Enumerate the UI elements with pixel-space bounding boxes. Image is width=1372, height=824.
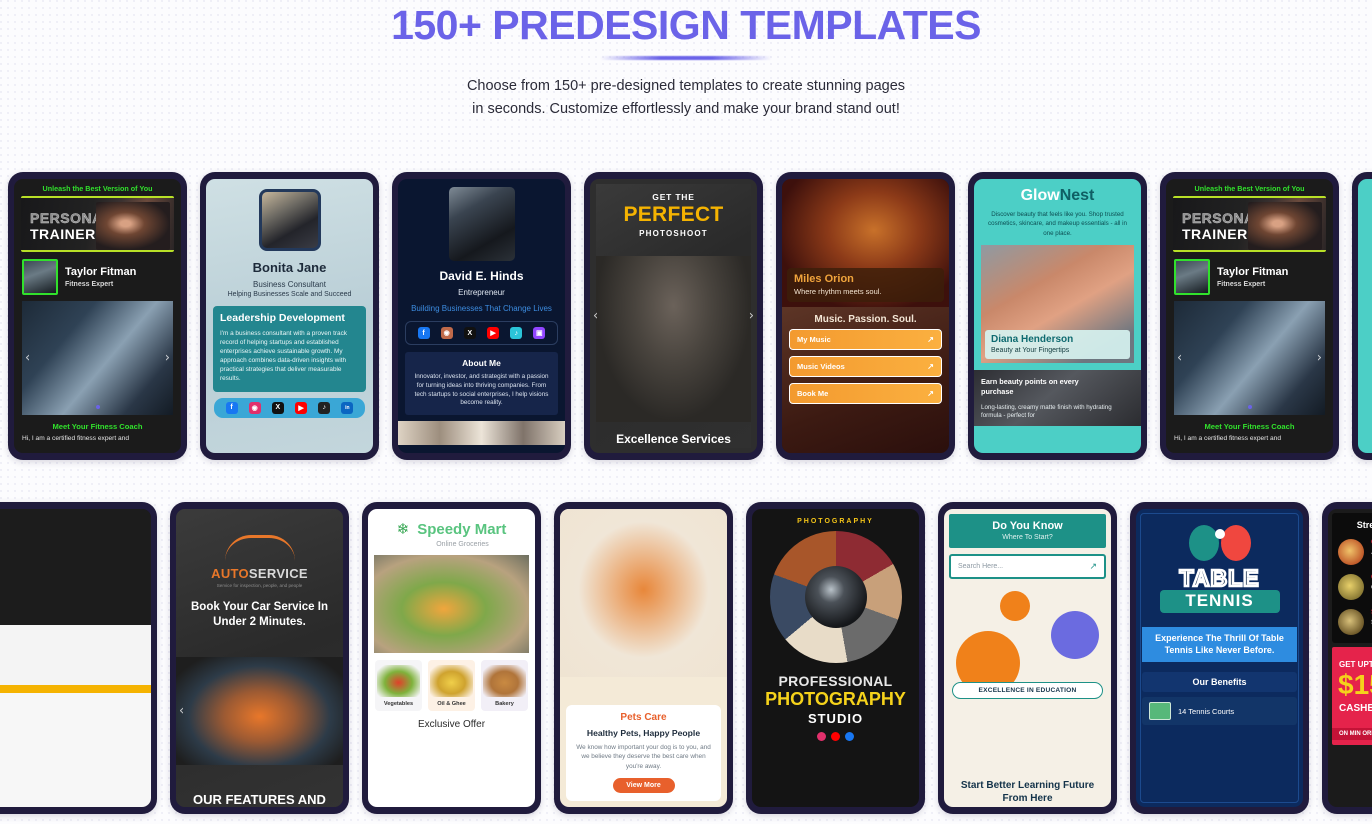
photoshoot-photo — [596, 256, 751, 422]
trainer-banner-figure — [1248, 202, 1322, 250]
carousel-dot[interactable] — [96, 405, 100, 409]
about-text: Innovator, investor, and strategist with… — [412, 373, 551, 408]
food-item: Street-Style Tacos Spicy, zesty, and ful… — [1338, 609, 1372, 635]
trainer-banner-figure — [96, 202, 170, 250]
beauty-model-photo: Diana Henderson Beauty at Your Fingertip… — [981, 245, 1134, 363]
grocery-brand: Speedy Mart — [417, 521, 506, 538]
tiktok-icon[interactable]: ♪ — [510, 327, 522, 339]
template-card-personal-trainer-repeat[interactable]: Unleash the Best Version of You PERSONAL… — [1160, 172, 1339, 460]
student-avatar-small — [1000, 591, 1030, 621]
studio-social-dots[interactable] — [752, 732, 919, 741]
fries-image — [1338, 574, 1364, 600]
consultant-service-card: Leadership Development I'm a business co… — [213, 306, 366, 392]
education-footer-line2: From Here — [944, 793, 1111, 806]
carousel-prev-icon[interactable]: ‹ — [25, 351, 30, 366]
trainer-tagline-top: Unleash the Best Version of You — [1166, 179, 1333, 196]
template-card-table-tennis[interactable]: TABLE TENNIS Experience The Thrill Of Ta… — [1130, 502, 1309, 814]
pets-subtitle: Healthy Pets, Happy People — [574, 728, 713, 738]
education-header: Do You Know Where To Start? — [949, 514, 1106, 548]
page-subtitle: Choose from 150+ pre-designed templates … — [0, 75, 1372, 121]
trainer-banner-line2: TRAINER — [1182, 226, 1248, 242]
template-card-education[interactable]: Do You Know Where To Start? Search Here.… — [938, 502, 1117, 814]
category-label: Oil & Ghee — [430, 701, 473, 707]
beauty-promo-title: Earn beauty points on every purchase — [981, 377, 1113, 397]
trainer-photo-carousel[interactable]: ‹ › — [1174, 301, 1325, 415]
beauty-brand-part1: Glow — [1021, 187, 1060, 204]
studio-top-label: PHOTOGRAPHY — [752, 509, 919, 525]
template-card-next-partial[interactable]: GlowNest — [1352, 172, 1372, 460]
x-twitter-icon[interactable]: X — [464, 327, 476, 339]
partial-accent-bar — [0, 685, 151, 693]
carousel-next-icon[interactable]: › — [165, 351, 170, 366]
x-twitter-icon[interactable]: X — [272, 402, 284, 414]
consultant-role: Business Consultant — [206, 280, 373, 289]
studio-line3: STUDIO — [752, 711, 919, 726]
avatar — [1174, 259, 1210, 295]
entrepreneur-photo-wrap — [398, 179, 565, 261]
camera-lens-icon — [805, 566, 867, 628]
musician-name-band: Miles Orion Where rhythm meets soul. — [787, 268, 944, 302]
book-me-button[interactable]: Book Me ↗ — [789, 383, 942, 404]
beauty-subtitle: Discover beauty that feels like you. Sho… — [974, 205, 1141, 238]
beauty-name-band: Diana Henderson Beauty at Your Fingertip… — [985, 330, 1130, 359]
education-footer-line1: Start Better Learning Future — [944, 780, 1111, 793]
subtitle-line-1: Choose from 150+ pre-designed templates … — [0, 75, 1372, 98]
ball-icon — [1215, 529, 1225, 539]
facebook-icon[interactable]: f — [418, 327, 430, 339]
trainer-profile: Taylor Fitman Fitness Expert — [14, 252, 181, 301]
entrepreneur-gallery-strip — [398, 421, 565, 445]
template-card-business-consultant[interactable]: Bonita Jane Business Consultant Helping … — [200, 172, 379, 460]
photoshoot-footer: Excellence Services — [596, 432, 751, 446]
beauty-promo-text: Long-lasting, creamy matte finish with h… — [981, 404, 1119, 421]
grocery-subtitle: Online Groceries — [390, 541, 535, 548]
youtube-icon[interactable]: ▶ — [295, 402, 307, 414]
consultant-photo — [259, 189, 321, 251]
facebook-icon[interactable]: f — [226, 402, 238, 414]
food-item: Cheesy Loaded Burger Juicy, cheesy & sat… — [1338, 539, 1372, 565]
musician-headline: Music. Passion. Soul. — [782, 307, 949, 329]
entrepreneur-about-card: About Me Innovator, investor, and strate… — [405, 352, 558, 415]
auto-logo-slogan: Service for inspection, people, and peop… — [176, 583, 343, 588]
auto-logo-arc — [225, 535, 295, 561]
grocery-header: ❄ Speedy Mart — [368, 509, 535, 538]
trainer-banner: PERSONAL TRAINER — [1173, 196, 1326, 252]
consultant-card-text: I'm a business consultant with a proven … — [220, 329, 359, 384]
linkedin-icon[interactable]: in — [341, 402, 353, 414]
food-promo-banner[interactable]: GET UPTO $150 CASHBACK ON MIN ORDER OF $… — [1332, 647, 1372, 745]
tiktok-icon[interactable]: ♪ — [318, 402, 330, 414]
tacos-image — [1338, 609, 1364, 635]
beauty-brand-part2: Nest — [1060, 187, 1095, 204]
burger-image — [1338, 539, 1364, 565]
grocery-hero-image — [374, 555, 529, 653]
consultant-tagline: Helping Businesses Scale and Succeed — [206, 291, 373, 298]
studio-photo-wheel — [770, 531, 902, 663]
promo-get-upto: GET UPTO — [1339, 660, 1372, 669]
template-card-street-food[interactable]: Street Food, Fresh & Fast Cheesy Loaded … — [1322, 502, 1372, 814]
partial-light-block — [0, 625, 151, 685]
trainer-photo-carousel[interactable]: ‹ › — [22, 301, 173, 415]
trainer-name: Taylor Fitman — [65, 266, 136, 278]
musician-tagline: Where rhythm meets soul. — [794, 287, 937, 296]
templates-showcase-page: 150+ PREDESIGN TEMPLATES Choose from 150… — [0, 0, 1372, 824]
template-card-pets[interactable]: Pets Care Healthy Pets, Happy People We … — [554, 502, 733, 814]
education-search-field[interactable]: Search Here... ↗ — [949, 554, 1106, 579]
promo-min-order: ON MIN ORDER OF $400 — [1332, 728, 1372, 740]
education-illustration: EXCELLENCE IN EDUCATION — [944, 579, 1111, 729]
book-me-label: Book Me — [797, 389, 828, 398]
photoshoot-inner: GET THE PERFECT PHOTOSHOOT Excellence Se… — [596, 184, 751, 448]
trainer-description: Hi, I am a certified fitness expert and — [1166, 435, 1333, 444]
instagram-icon[interactable]: ◉ — [441, 327, 453, 339]
food-footer: Menu Bestsellers — [1328, 794, 1372, 805]
consultant-card-title: Leadership Development — [220, 312, 359, 324]
category-label: Bakery — [483, 701, 526, 707]
trainer-role: Fitness Expert — [1217, 281, 1288, 288]
template-card-grocery[interactable]: ❄ Speedy Mart Online Groceries Vegetable… — [362, 502, 541, 814]
carousel-next-icon[interactable]: › — [749, 309, 754, 324]
beauty-brand: GlowNest — [974, 179, 1141, 205]
entrepreneur-social-bar[interactable]: f ◉ X ▶ ♪ ▣ — [405, 321, 558, 345]
instagram-icon[interactable] — [817, 732, 826, 741]
music-videos-label: Music Videos — [797, 362, 845, 371]
education-footer: Start Better Learning Future From Here — [944, 780, 1111, 805]
carousel-prev-icon[interactable]: ‹ — [593, 309, 598, 324]
food-menu-panel: Street Food, Fresh & Fast Cheesy Loaded … — [1332, 513, 1372, 643]
template-card-photoshoot[interactable]: GET THE PERFECT PHOTOSHOOT Excellence Se… — [584, 172, 763, 460]
template-card-musician[interactable]: Miles Orion Where rhythm meets soul. Mus… — [776, 172, 955, 460]
page-title: 150+ PREDESIGN TEMPLATES — [0, 4, 1372, 47]
carousel-prev-icon[interactable]: ‹ — [1177, 351, 1182, 366]
auto-headline: Book Your Car Service In Under 2 Minutes… — [176, 600, 343, 630]
external-link-icon: ↗ — [927, 362, 934, 371]
bakery-image — [483, 665, 526, 697]
external-link-icon: ↗ — [927, 335, 934, 344]
promo-cashback: CASHBACK — [1339, 703, 1372, 714]
auto-car-image: ‹ — [176, 657, 343, 765]
partial-bottom-block — [0, 693, 151, 807]
pets-dog-illustration — [560, 509, 727, 677]
template-card-photography-studio[interactable]: PHOTOGRAPHY PROFESSIONAL PHOTOGRAPHY STU… — [746, 502, 925, 814]
carousel-dot[interactable] — [1248, 405, 1252, 409]
excellence-badge[interactable]: EXCELLENCE IN EDUCATION — [952, 682, 1103, 699]
tennis-inner-border — [1140, 513, 1299, 803]
carousel-prev-icon[interactable]: ‹ — [179, 704, 184, 719]
search-input[interactable]: Search Here... — [958, 563, 1003, 570]
trainer-tagline-bottom: Meet Your Fitness Coach — [14, 415, 181, 435]
entrepreneur-role: Entrepreneur — [398, 288, 565, 297]
beauty-brand: GlowNest — [1358, 179, 1372, 205]
trainer-description: Hi, I am a certified fitness expert and — [14, 435, 181, 444]
entrepreneur-photo — [449, 187, 515, 261]
entrepreneur-name: David E. Hinds — [398, 269, 565, 283]
carousel-next-icon[interactable]: › — [1317, 351, 1322, 366]
musician-links-section: Music. Passion. Soul. My Music ↗ Music V… — [782, 307, 949, 453]
my-music-button[interactable]: My Music ↗ — [789, 329, 942, 350]
musician-name: Miles Orion — [794, 273, 937, 285]
template-card-beauty[interactable]: GlowNest Discover beauty that feels like… — [968, 172, 1147, 460]
pets-title: Pets Care — [574, 712, 713, 723]
category-oil-ghee[interactable]: Oil & Ghee — [428, 660, 475, 711]
studio-line1: PROFESSIONAL — [752, 673, 919, 689]
trainer-banner: PERSONAL TRAINER — [21, 196, 174, 252]
facebook-icon[interactable] — [845, 732, 854, 741]
consultant-name: Bonita Jane — [206, 260, 373, 275]
vegetables-image — [377, 665, 420, 697]
studio-line2: PHOTOGRAPHY — [752, 690, 919, 708]
template-carousel-row-bottom[interactable]: AUTOSERVICE Service for inspection, peop… — [0, 502, 1372, 814]
about-title: About Me — [412, 358, 551, 368]
category-label: Vegetables — [377, 701, 420, 707]
food-item: Crispy Fries Golden, crunchy, and perfec… — [1338, 574, 1372, 600]
trainer-name: Taylor Fitman — [1217, 266, 1288, 278]
pets-description: We know how important your dog is to you… — [574, 743, 713, 771]
template-card-entrepreneur[interactable]: David E. Hinds Entrepreneur Building Bus… — [392, 172, 571, 460]
external-link-icon: ↗ — [927, 389, 934, 398]
photoshoot-line1: GET THE — [596, 184, 751, 202]
photoshoot-line2: PERFECT — [596, 204, 751, 226]
beauty-promo-card: Earn beauty points on every purchase Lon… — [974, 370, 1141, 426]
consultant-social-bar[interactable]: f ◉ X ▶ ♪ in — [214, 398, 365, 418]
pets-info-card: Pets Care Healthy Pets, Happy People We … — [566, 705, 721, 801]
trainer-role: Fitness Expert — [65, 281, 136, 288]
template-card-personal-trainer[interactable]: Unleash the Best Version of You PERSONAL… — [8, 172, 187, 460]
my-music-label: My Music — [797, 335, 831, 344]
page-header: 150+ PREDESIGN TEMPLATES Choose from 150… — [0, 0, 1372, 121]
grocery-offer-title: Exclusive Offer — [368, 711, 535, 730]
title-divider — [0, 47, 1372, 69]
food-heading: Street Food, Fresh & Fast — [1338, 520, 1372, 530]
trainer-tagline-bottom: Meet Your Fitness Coach — [1166, 415, 1333, 435]
auto-footer: OUR FEATURES AND — [176, 792, 343, 807]
youtube-icon[interactable] — [831, 732, 840, 741]
beauty-name: Diana Henderson — [991, 334, 1124, 345]
category-bakery[interactable]: Bakery — [481, 660, 528, 711]
instagram-icon[interactable]: ◉ — [249, 402, 261, 414]
category-vegetables[interactable]: Vegetables — [375, 660, 422, 711]
template-card-auto-service[interactable]: AUTOSERVICE Service for inspection, peop… — [170, 502, 349, 814]
oil-ghee-image — [430, 665, 473, 697]
auto-logo-part1: AUTO — [211, 566, 249, 581]
student-avatar-medium — [1051, 611, 1099, 659]
trainer-banner-line2: TRAINER — [30, 226, 96, 242]
education-subheading: Where To Start? — [949, 534, 1106, 541]
external-link-icon[interactable]: ↗ — [1089, 561, 1097, 572]
education-heading: Do You Know — [949, 520, 1106, 532]
consultant-photo-wrap — [206, 179, 373, 251]
view-more-button[interactable]: View More — [613, 778, 675, 793]
musician-hero-photo: Miles Orion Where rhythm meets soul. — [782, 179, 949, 307]
grocery-category-list[interactable]: Vegetables Oil & Ghee Bakery — [368, 653, 535, 711]
avatar — [22, 259, 58, 295]
auto-logo-text: AUTOSERVICE — [176, 566, 343, 581]
beauty-tagline: Beauty at Your Fingertips — [991, 347, 1124, 354]
twitch-icon[interactable]: ▣ — [533, 327, 545, 339]
carrot-icon: ❄ — [397, 520, 410, 538]
promo-amount: $150 — [1338, 671, 1372, 699]
template-carousel-row-top[interactable]: Unleash the Best Version of You PERSONAL… — [8, 172, 1372, 460]
partial-top-block — [0, 509, 151, 625]
trainer-profile: Taylor Fitman Fitness Expert — [1166, 252, 1333, 301]
entrepreneur-tagline: Building Businesses That Change Lives — [398, 304, 565, 313]
music-videos-button[interactable]: Music Videos ↗ — [789, 356, 942, 377]
template-card-previous-partial[interactable] — [0, 502, 157, 814]
photoshoot-line3: PHOTOSHOOT — [596, 229, 751, 238]
subtitle-line-2: in seconds. Customize effortlessly and m… — [0, 98, 1372, 121]
trainer-tagline-top: Unleash the Best Version of You — [14, 179, 181, 196]
auto-logo-part2: SERVICE — [249, 566, 308, 581]
auto-logo: AUTOSERVICE Service for inspection, peop… — [176, 509, 343, 588]
youtube-icon[interactable]: ▶ — [487, 327, 499, 339]
